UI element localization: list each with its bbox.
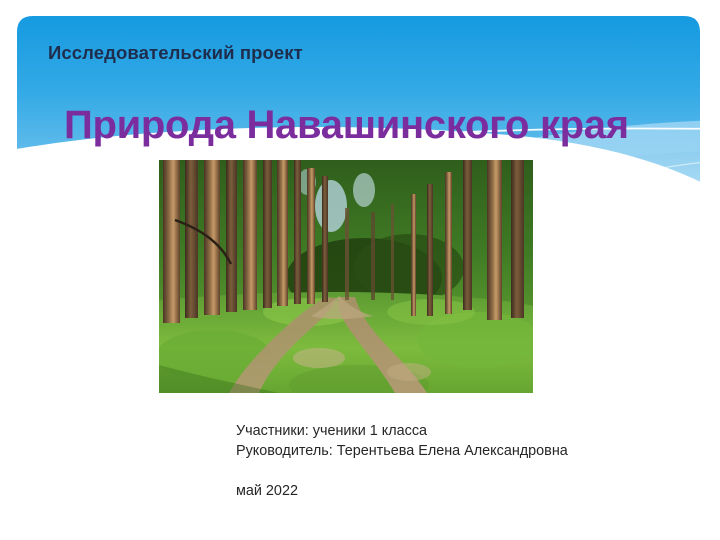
credits-spacer	[236, 462, 696, 481]
participants-line: Участники: ученики 1 класса	[236, 421, 696, 441]
date-line: май 2022	[236, 481, 696, 501]
slide-title: Природа Навашинского края	[64, 104, 704, 146]
slide-subtitle: Исследовательский проект	[48, 42, 608, 63]
supervisor-line: Руководитель: Терентьева Елена Александр…	[236, 441, 696, 461]
forest-path-photo	[159, 160, 533, 393]
title-slide: Исследовательский проект Природа Навашин…	[0, 0, 720, 540]
credits-block: Участники: ученики 1 класса Руководитель…	[236, 421, 696, 501]
